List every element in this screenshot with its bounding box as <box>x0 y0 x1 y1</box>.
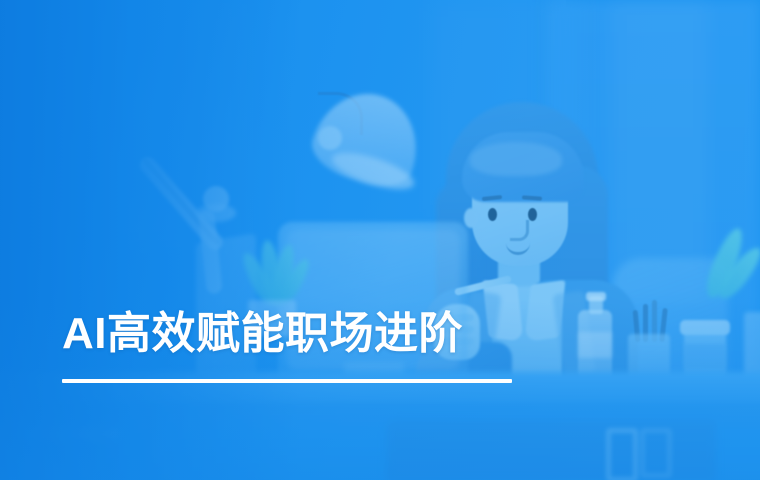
background-illustration <box>0 0 760 480</box>
promo-banner: AI高效赋能职场进阶 <box>0 0 760 480</box>
banner-title: AI高效赋能职场进阶 <box>62 306 702 362</box>
headline-block: AI高效赋能职场进阶 <box>62 306 702 383</box>
title-divider <box>62 379 512 383</box>
